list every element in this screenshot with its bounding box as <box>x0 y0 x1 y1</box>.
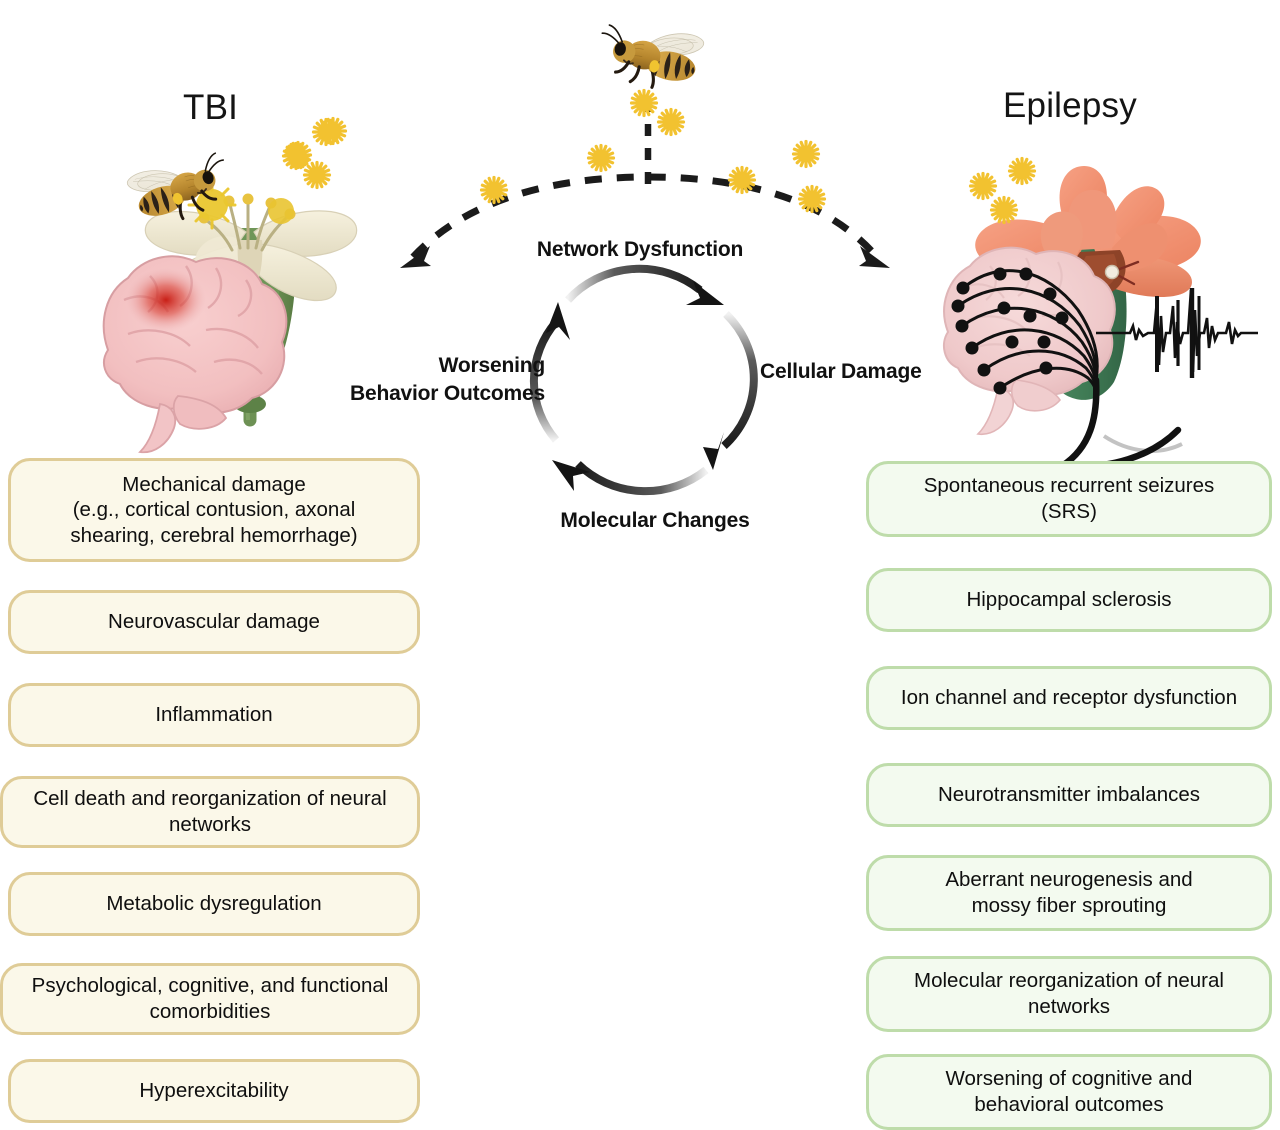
tbi-list-item: Mechanical damage (e.g., cortical contus… <box>8 458 420 562</box>
tbi-list-item: Neurovascular damage <box>8 590 420 654</box>
tbi-list-item: Cell death and reorganization of neural … <box>0 776 420 848</box>
epilepsy-list-item: Aberrant neurogenesis and mossy fiber sp… <box>866 855 1272 931</box>
tbi-list-item: Metabolic dysregulation <box>8 872 420 936</box>
epilepsy-list-item: Hippocampal sclerosis <box>866 568 1272 632</box>
tbi-list-item: Hyperexcitability <box>8 1059 420 1123</box>
cycle-label-molecular-changes: Molecular Changes <box>505 507 805 535</box>
figure-canvas: TBI Epilepsy Network Dysfunction Cellula… <box>0 0 1280 1130</box>
epilepsy-list-item: Worsening of cognitive and behavioral ou… <box>866 1054 1272 1130</box>
epilepsy-list-item: Spontaneous recurrent seizures (SRS) <box>866 461 1272 537</box>
brain-with-contusion-icon <box>104 256 287 452</box>
cycle-arrows <box>534 269 754 491</box>
epilepsy-list-item: Molecular reorganization of neural netwo… <box>866 956 1272 1032</box>
epilepsy-list-item: Ion channel and receptor dysfunction <box>866 666 1272 730</box>
cycle-label-network-dysfunction: Network Dysfunction <box>470 236 810 264</box>
eeg-seizure-trace-icon <box>1096 288 1258 378</box>
epilepsy-illustration <box>944 159 1258 467</box>
brain-with-eeg-electrodes-icon <box>944 248 1182 467</box>
center-bee <box>595 19 705 94</box>
cycle-label-cellular-damage: Cellular Damage <box>760 358 970 386</box>
page-title-tbi: TBI <box>183 88 238 128</box>
pollen-grains-center <box>286 91 825 212</box>
epilepsy-list-item: Neurotransmitter imbalances <box>866 763 1272 827</box>
tbi-list-item: Inflammation <box>8 683 420 747</box>
page-title-epilepsy: Epilepsy <box>1003 86 1137 126</box>
tbi-list-item: Psychological, cognitive, and functional… <box>0 963 420 1035</box>
cycle-label-worsening-behavior-outcomes: Worsening Behavior Outcomes <box>305 352 545 407</box>
